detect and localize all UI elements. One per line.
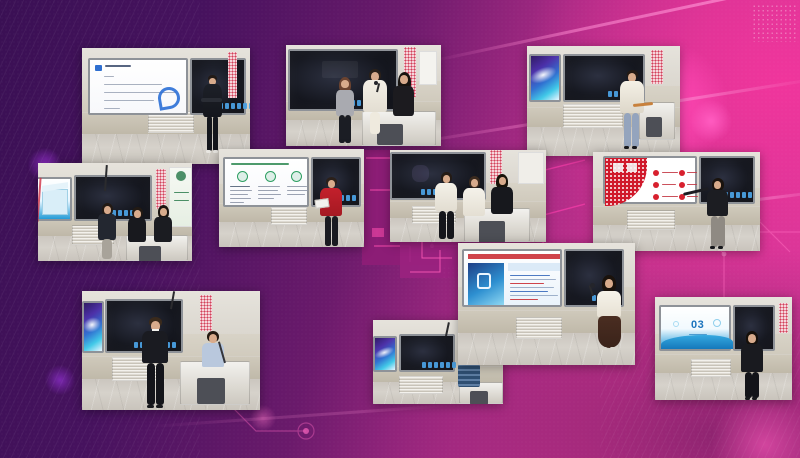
- presentation-screen-aurora: [82, 301, 104, 353]
- person-presenter-suit: [739, 331, 765, 399]
- wall-poster-red: [651, 50, 663, 84]
- person-seated-colleague: [200, 331, 226, 369]
- person-presenter-microphone: [594, 275, 624, 363]
- person-student-center: [462, 176, 486, 236]
- person-student-left: [96, 203, 118, 261]
- badge-circle: [237, 171, 248, 182]
- presentation-screen-dark: [399, 334, 455, 372]
- presentation-screen-aurora: [373, 336, 397, 372]
- presentation-screen-aurora: [529, 54, 561, 102]
- wall-poster: [518, 152, 544, 184]
- person-student-center: [126, 207, 148, 253]
- wall-poster-red: [200, 295, 212, 331]
- presentation-screen-green-infographic: [223, 157, 309, 207]
- wall-poster: [419, 51, 437, 85]
- presentation-screen-outline: [88, 58, 188, 115]
- slide-chapter-number: 03: [691, 319, 704, 331]
- photo-student-pointing-red-slide[interactable]: [593, 152, 760, 251]
- person-presenter-pointing: [705, 178, 731, 250]
- person-student-left: [334, 77, 356, 145]
- person-student-center: [362, 69, 388, 145]
- wall-poster-red: [779, 303, 788, 333]
- micro-dots-corner: [752, 4, 796, 42]
- glow-orb-bottom-right: [710, 390, 800, 458]
- person-presenter: [619, 70, 645, 154]
- photo-student-dark-coat-outline-slide[interactable]: [82, 48, 250, 164]
- presentation-screen-data-report: [462, 249, 562, 307]
- person-student-right: [392, 72, 416, 144]
- wall-poster-red: [156, 169, 166, 209]
- badge-circle: [291, 171, 302, 182]
- presentation-screen-chapter-03: 03: [659, 305, 731, 351]
- person-presenter-suit: [140, 317, 170, 410]
- photo-student-red-jacket-green-slide[interactable]: [219, 149, 364, 247]
- person-student-right: [152, 205, 174, 253]
- person-presenter-red-jacket: [319, 177, 343, 247]
- wall-poster-red: [228, 52, 237, 98]
- photo-student-microphone-data-slide[interactable]: [458, 243, 635, 365]
- photo-three-students-banner-background[interactable]: [38, 163, 192, 261]
- presentation-screen-red-agenda: [603, 156, 697, 204]
- photo-student-chapter-three-slide[interactable]: 03: [655, 297, 792, 400]
- photo-three-students-white-tops[interactable]: [390, 150, 546, 242]
- photo-three-students-podium-microphone[interactable]: [286, 45, 441, 146]
- collage-canvas: 03 Classroom Presentation Photo Collage: [0, 0, 800, 458]
- person-presenter: [200, 75, 224, 157]
- person-student-right: [490, 174, 514, 232]
- badge-circle: [265, 171, 276, 182]
- glow-orb-right-small: [690, 100, 732, 142]
- presentation-screen-building: [38, 177, 72, 221]
- photo-student-cream-jacket-aurora-slide[interactable]: [527, 46, 680, 156]
- photo-two-people-suit-presenter-seated[interactable]: [82, 291, 260, 410]
- glow-orb-bottom-left: [45, 365, 75, 395]
- person-student-left: [434, 172, 458, 242]
